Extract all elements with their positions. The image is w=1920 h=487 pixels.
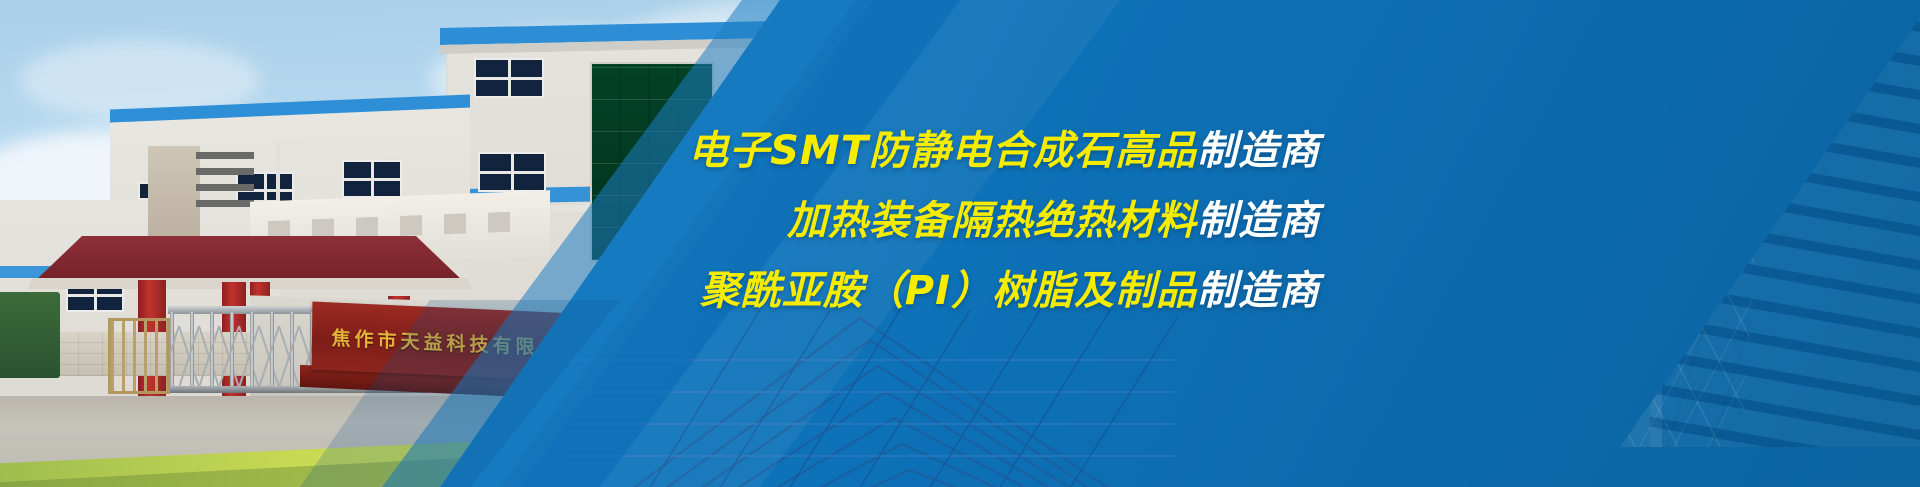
window: [474, 58, 544, 98]
louvre-fins: [196, 152, 254, 216]
window: [342, 160, 402, 198]
promo-banner: 焦作市天益科技有限公司: [0, 0, 1920, 487]
tower-wing-facet: [1180, 0, 1658, 487]
entrance-canopy-roof: [34, 236, 464, 282]
hedge: [0, 292, 60, 378]
tower-louvres: [1270, 258, 1530, 487]
tower-right-slab: [1650, 0, 1920, 487]
window: [478, 152, 546, 192]
tower-shadow-facet: [1300, 147, 1600, 483]
skyscraper-ghost-graphic: [1180, 0, 1920, 487]
pedestrian-gate: [108, 318, 170, 394]
